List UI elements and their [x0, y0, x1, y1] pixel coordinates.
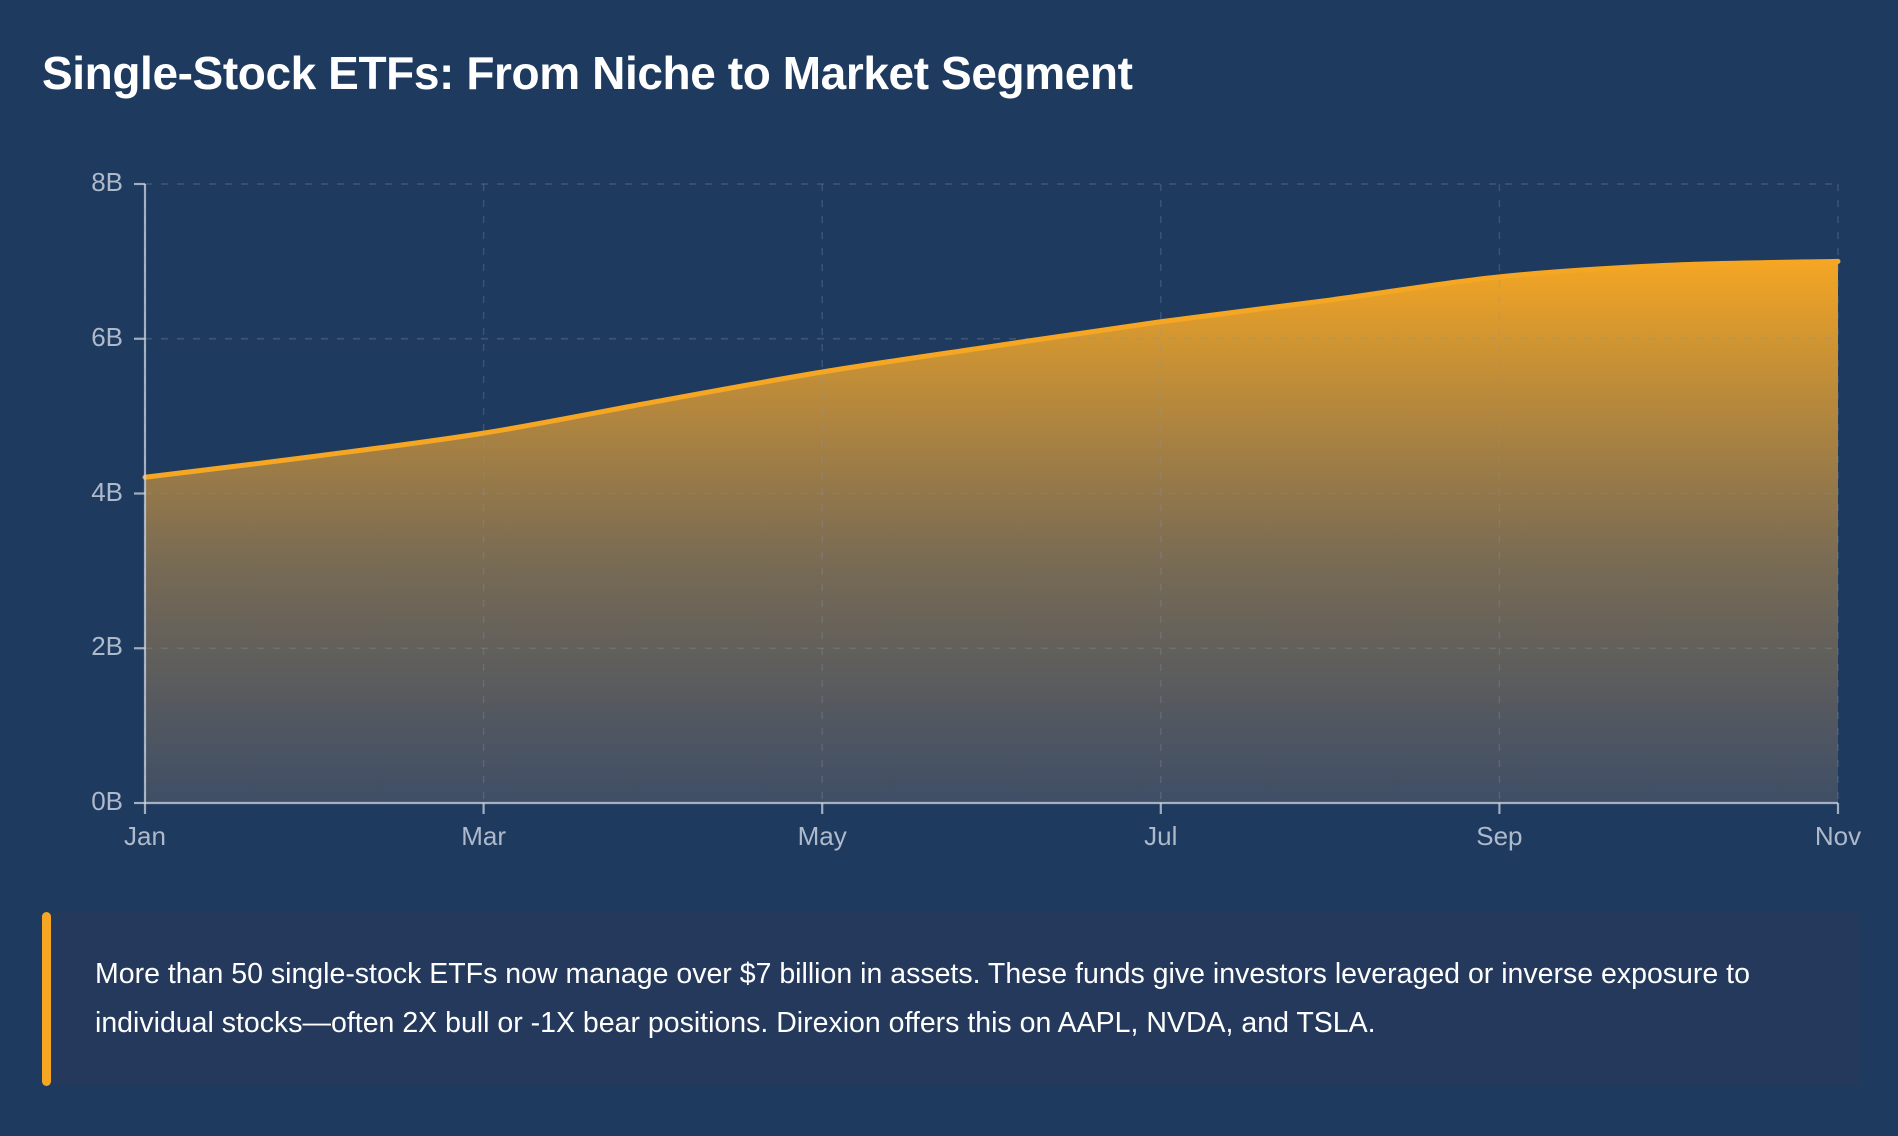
x-axis-tick-label: Jul	[1101, 821, 1221, 852]
page-title: Single-Stock ETFs: From Niche to Market …	[42, 46, 1133, 100]
chart-container: 0B2B4B6B8BJanMarMayJulSepNov	[0, 150, 1898, 850]
y-axis-tick-label: 4B	[63, 477, 123, 508]
y-axis-tick-label: 6B	[63, 322, 123, 353]
caption-callout: More than 50 single-stock ETFs now manag…	[42, 912, 1860, 1086]
x-axis-tick-label: Mar	[424, 821, 544, 852]
area-chart	[0, 150, 1898, 850]
caption-accent-bar	[42, 912, 51, 1086]
y-axis-tick-label: 8B	[63, 167, 123, 198]
y-axis-tick-label: 2B	[63, 631, 123, 662]
chart-page: Single-Stock ETFs: From Niche to Market …	[0, 0, 1898, 1136]
y-axis-tick-label: 0B	[63, 786, 123, 817]
caption-box: More than 50 single-stock ETFs now manag…	[51, 912, 1860, 1086]
caption-text: More than 50 single-stock ETFs now manag…	[95, 950, 1816, 1048]
x-axis-tick-label: Sep	[1439, 821, 1559, 852]
x-axis-tick-label: Jan	[85, 821, 205, 852]
x-axis-tick-label: Nov	[1778, 821, 1898, 852]
x-axis-tick-label: May	[762, 821, 882, 852]
area-fill	[145, 261, 1838, 803]
